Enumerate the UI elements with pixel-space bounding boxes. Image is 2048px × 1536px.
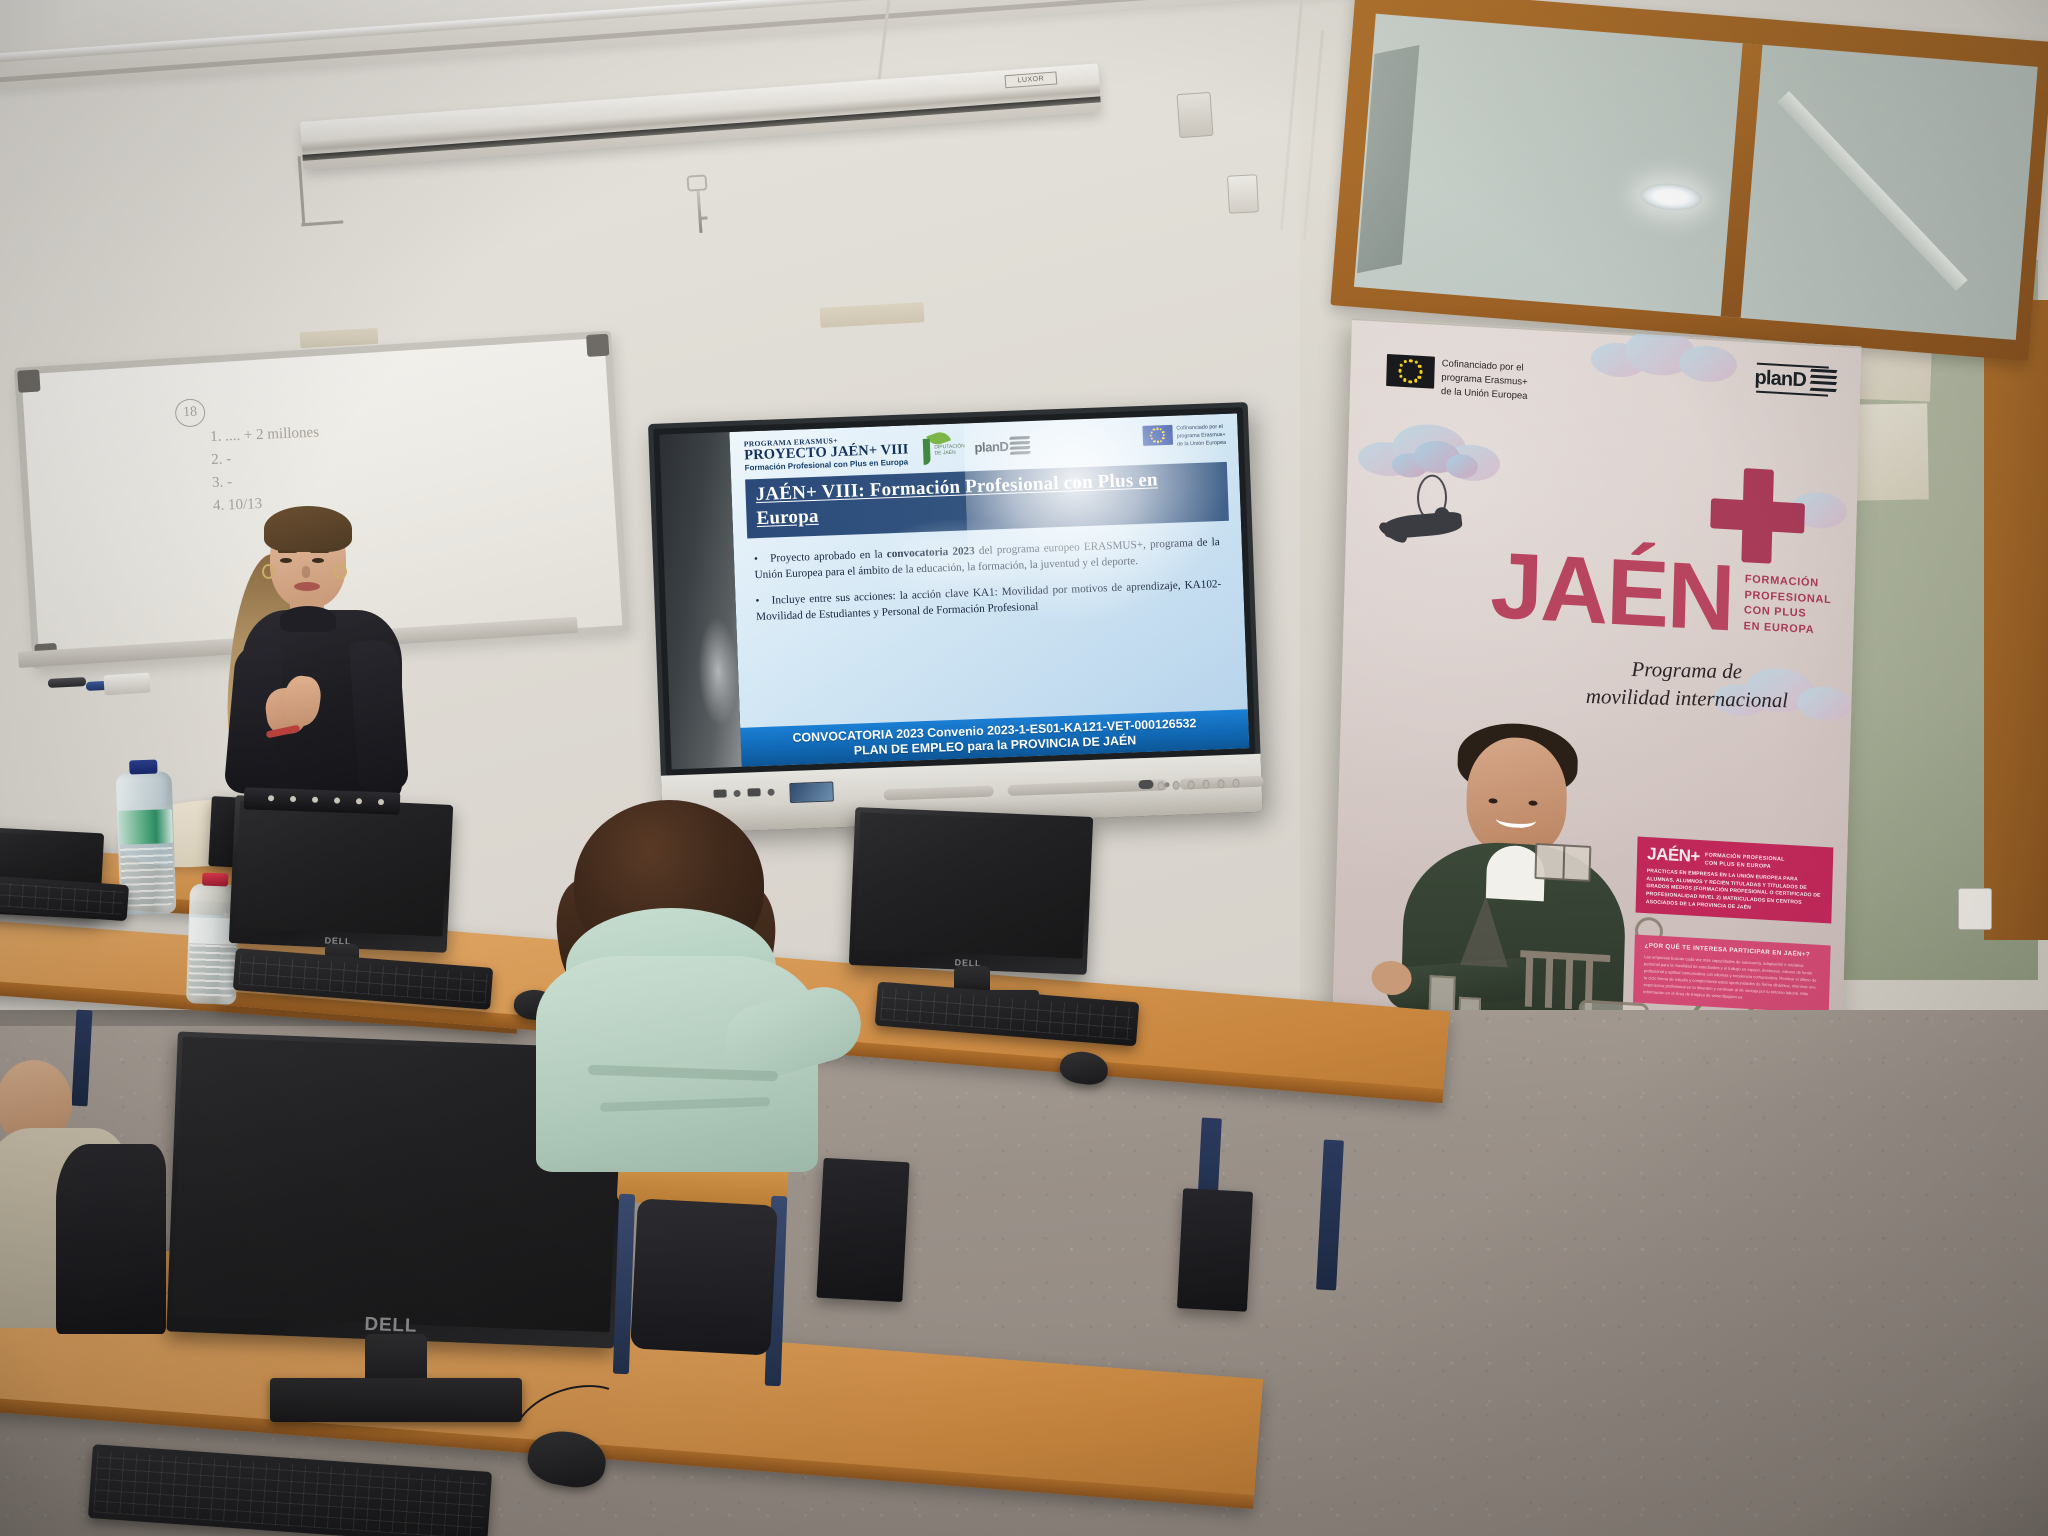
banner-script-tagline: Programa de movilidad internacional xyxy=(1542,654,1832,716)
monitor-base-foreground xyxy=(270,1378,522,1422)
eu-cofunded-logo: Cofinanciado por el programa Erasmus+ de… xyxy=(1142,423,1226,450)
panel-dark-left-edge xyxy=(659,432,741,769)
interactive-flat-panel[interactable]: PROGRAMA ERASMUS+ PROYECTO JAÉN+ VIII Fo… xyxy=(648,402,1263,834)
presenter-eye-left xyxy=(280,558,292,563)
monitor-center[interactable]: DELL xyxy=(849,807,1093,975)
panel-speaker-grille-left xyxy=(884,786,994,801)
roller-brand-label: LUXOR xyxy=(1004,71,1057,88)
panel-button-3[interactable] xyxy=(1187,780,1194,789)
panel-button-5[interactable] xyxy=(1217,779,1224,788)
presenter-nose xyxy=(302,566,310,578)
bottle-label xyxy=(118,809,173,845)
port-dot-icon-2[interactable] xyxy=(767,788,774,795)
transom-window xyxy=(1330,0,2048,361)
eu-star-icon xyxy=(1156,428,1158,430)
slide-bullet-1: • Proyecto aprobado en la convocatoria 2… xyxy=(754,535,1221,584)
eu-star-icon xyxy=(1403,378,1406,381)
whiteboard-corner-tl xyxy=(17,369,40,392)
presenter-brow-right xyxy=(310,550,329,553)
window-glass-left xyxy=(1354,14,2038,340)
presenter xyxy=(228,506,418,866)
hoop-earring-icon-left xyxy=(262,564,275,579)
eu-star-icon xyxy=(1151,431,1153,433)
classroom-photo: LUXOR 18 1. .... + 2 millones 2. - 3. - … xyxy=(0,0,2048,1536)
pland-logo-text: planD xyxy=(974,439,1009,455)
j-stem-icon xyxy=(923,439,931,465)
bottle-cap-blue[interactable] xyxy=(129,760,157,775)
hdmi-port-icon[interactable] xyxy=(747,788,760,796)
presenter-turtleneck-collar xyxy=(280,606,336,632)
presenter-mouth xyxy=(294,582,320,591)
slide-bullet-2: • Incluye entre sus acciones: la acción … xyxy=(755,578,1222,627)
pland-stripes-icon-banner xyxy=(1810,369,1837,395)
eu-flag-icon xyxy=(1142,425,1173,446)
eu-star-icon xyxy=(1153,429,1155,431)
eu-star-icon xyxy=(1162,431,1164,433)
eu-star-icon xyxy=(1400,374,1403,377)
port-dot-icon-1[interactable] xyxy=(733,789,740,796)
eu-star-icon xyxy=(1157,441,1159,443)
person-left-jacket xyxy=(56,1144,166,1334)
pink-box-paragraph: Las empresas buscan cada vez más capacid… xyxy=(1643,954,1820,1006)
pink-box-tag: FORMACIÓN PROFESIONALCON PLUS EN EUROPA xyxy=(1705,853,1785,872)
pink-box-body: PRÁCTICAS EN EMPRESAS EN LA UNIÓN EUROPE… xyxy=(1646,868,1823,916)
bullet-icon-1: • xyxy=(754,551,767,567)
panel-button-1[interactable] xyxy=(1157,781,1164,790)
pland-stripes-icon xyxy=(1010,436,1031,455)
door-frame[interactable] xyxy=(1984,300,2048,940)
book-icon xyxy=(1534,843,1591,882)
keyboard-keys[interactable] xyxy=(0,881,124,915)
eu-star-icon xyxy=(1153,440,1155,442)
presenter-hair-top xyxy=(264,506,352,552)
presentation-slide: PROGRAMA ERASMUS+ PROYECTO JAÉN+ VIII Fo… xyxy=(729,413,1249,766)
student-legs xyxy=(630,1198,778,1355)
chair-post-left xyxy=(613,1194,635,1374)
panel-screen[interactable]: PROGRAMA ERASMUS+ PROYECTO JAÉN+ VIII Fo… xyxy=(729,413,1249,766)
eu-star-icon xyxy=(1414,379,1417,382)
slide-title: JAÉN+ VIII: Formación Profesional con Pl… xyxy=(745,462,1229,538)
wall-paper-2 xyxy=(1853,403,1929,500)
slide-header-text: PROGRAMA ERASMUS+ PROYECTO JAÉN+ VIII Fo… xyxy=(744,433,909,472)
eu-star-icon xyxy=(1400,364,1403,367)
roller-pull-key[interactable] xyxy=(686,174,707,191)
banner-pland-text: planD xyxy=(1754,367,1806,393)
wall-speaker xyxy=(1177,92,1214,138)
pc-tower-right xyxy=(1177,1188,1253,1311)
eu-star-icon xyxy=(1419,370,1422,373)
panel-button-row[interactable] xyxy=(1157,779,1239,791)
bullet-icon-2: • xyxy=(755,594,768,610)
diputacion-logo-text: DIPUTACIÓN DE JAÉN xyxy=(934,443,965,457)
whiteboard-eraser[interactable] xyxy=(103,673,150,696)
bottle-cap-red[interactable] xyxy=(202,873,228,887)
student-seated xyxy=(528,800,838,1160)
presenter-eye-right xyxy=(312,558,324,563)
panel-button-4[interactable] xyxy=(1202,780,1209,789)
eu-cofunded-text: Cofinanciado por el programa Erasmus+ de… xyxy=(1176,423,1226,449)
eu-flag-icon-banner xyxy=(1386,354,1435,389)
eu-star-icon xyxy=(1160,440,1162,442)
whiteboard-circled-number: 18 xyxy=(175,398,206,427)
banner-brand-jaen: JAÉN xyxy=(1489,538,1734,646)
eu-star-icon xyxy=(1414,361,1417,364)
usb-port-icon[interactable] xyxy=(713,789,726,797)
wall-junction-box xyxy=(1227,174,1259,214)
panel-ports[interactable] xyxy=(713,788,774,798)
pland-logo: planD xyxy=(974,433,1033,461)
parachutist-illustration xyxy=(1375,438,1489,574)
person-foreground-left xyxy=(0,1060,136,1320)
eu-star-icon xyxy=(1162,437,1164,439)
presenter-brow-left xyxy=(278,550,297,553)
banner-pland-logo: planD xyxy=(1754,357,1839,400)
banner-eu-text: Cofinanciado por el programa Erasmus+ de… xyxy=(1441,357,1529,404)
banner-brand-subtitle: FORMACIÓNPROFESIONALCON PLUSEN EUROPA xyxy=(1743,572,1832,639)
whiteboard-corner-tr xyxy=(586,334,609,357)
student-chair[interactable] xyxy=(610,1150,800,1400)
slide-body: • Proyecto aprobado en la convocatoria 2… xyxy=(748,534,1232,626)
banner-eu-cofunded-logo: Cofinanciado por el programa Erasmus+ de… xyxy=(1386,354,1529,404)
eu-star-icon xyxy=(1409,359,1412,362)
eu-star-icon xyxy=(1398,369,1401,372)
eu-star-icon xyxy=(1163,434,1165,436)
panel-ir-sensor-icon xyxy=(1138,780,1153,790)
whiteboard-handwriting: 18 1. .... + 2 millones 2. - 3. - 4. 10/… xyxy=(175,386,510,520)
diputacion-jaen-logo: DIPUTACIÓN DE JAÉN xyxy=(914,433,969,465)
monitor-screen[interactable] xyxy=(854,812,1088,958)
eu-star-icon xyxy=(1418,375,1421,378)
eu-star-icon xyxy=(1409,380,1412,383)
eiffel-tower-icon xyxy=(1460,895,1510,968)
panel-button-2[interactable] xyxy=(1172,781,1179,790)
banner-pink-box-main: JAÉN+ FORMACIÓN PROFESIONALCON PLUS EN E… xyxy=(1636,837,1834,924)
eu-star-icon xyxy=(1150,434,1152,436)
wall-power-socket[interactable] xyxy=(1958,888,1992,930)
panel-bezel: PROGRAMA ERASMUS+ PROYECTO JAÉN+ VIII Fo… xyxy=(653,407,1255,775)
presenter-studded-belt xyxy=(244,787,401,814)
eu-star-icon xyxy=(1404,360,1407,363)
panel-glare xyxy=(696,616,740,727)
plus-cross-icon xyxy=(1709,466,1806,565)
panel-button-6[interactable] xyxy=(1232,779,1239,788)
eu-star-icon xyxy=(1418,365,1421,368)
presenter-arm-right xyxy=(349,638,409,793)
banner-pink-box-why: ¿POR QUÉ TE INTERESA PARTICIPAR EN JAÉN+… xyxy=(1633,935,1831,1014)
hoop-earring-icon-right xyxy=(334,564,347,579)
pc-tower-under-desk xyxy=(816,1158,909,1302)
